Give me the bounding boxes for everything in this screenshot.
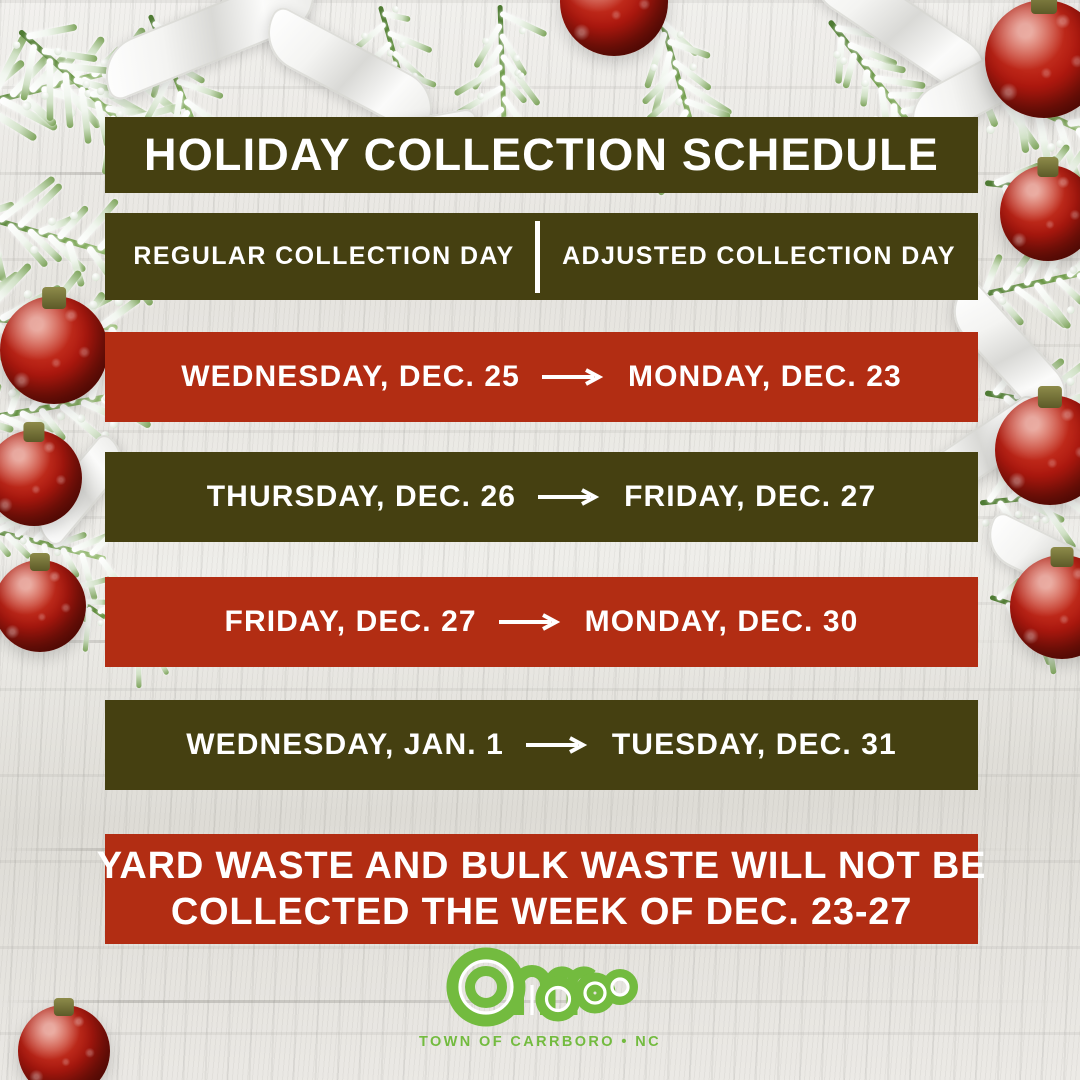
regular-day: THURSDAY, DEC. 26 [207,480,516,514]
adjusted-day: MONDAY, DEC. 23 [628,360,902,394]
table-row: WEDNESDAY, DEC. 25 MONDAY, DEC. 23 [105,332,978,422]
adjusted-day: MONDAY, DEC. 30 [585,605,859,639]
regular-day: WEDNESDAY, JAN. 1 [186,728,504,762]
notice-line-1: YARD WASTE AND BULK WASTE WILL NOT BE [97,846,987,886]
logo-tagline: TOWN OF CARRBORO • NC [419,1034,661,1050]
notice-line-2: COLLECTED THE WEEK OF DEC. 23-27 [171,892,912,932]
table-row: THURSDAY, DEC. 26 FRIDAY, DEC. 27 [105,452,978,542]
red-ornament-ball [18,1005,110,1080]
carrboro-wordmark-icon [440,935,640,1030]
red-ornament-ball [0,296,108,404]
adjusted-day: FRIDAY, DEC. 27 [624,480,876,514]
column-header-regular: REGULAR COLLECTION DAY [105,242,543,271]
arrow-right-icon [538,487,602,507]
arrow-right-icon [526,735,590,755]
schedule-content: HOLIDAY COLLECTION SCHEDULE REGULAR COLL… [105,0,978,1080]
page-title: HOLIDAY COLLECTION SCHEDULE [144,129,939,181]
adjusted-day: TUESDAY, DEC. 31 [612,728,897,762]
poster-title-bar: HOLIDAY COLLECTION SCHEDULE [105,117,978,193]
arrow-right-icon [542,367,606,387]
notice-banner: YARD WASTE AND BULK WASTE WILL NOT BE CO… [105,834,978,944]
arrow-right-icon [499,612,563,632]
regular-day: WEDNESDAY, DEC. 25 [181,360,520,394]
holiday-collection-schedule-poster: HOLIDAY COLLECTION SCHEDULE REGULAR COLL… [0,0,1080,1080]
carrboro-logo: TOWN OF CARRBORO • NC [415,935,665,1050]
table-row: FRIDAY, DEC. 27 MONDAY, DEC. 30 [105,577,978,667]
table-row: WEDNESDAY, JAN. 1 TUESDAY, DEC. 31 [105,700,978,790]
column-header-adjusted: ADJUSTED COLLECTION DAY [540,242,978,271]
table-header-row: REGULAR COLLECTION DAY ADJUSTED COLLECTI… [105,213,978,300]
regular-day: FRIDAY, DEC. 27 [225,605,477,639]
